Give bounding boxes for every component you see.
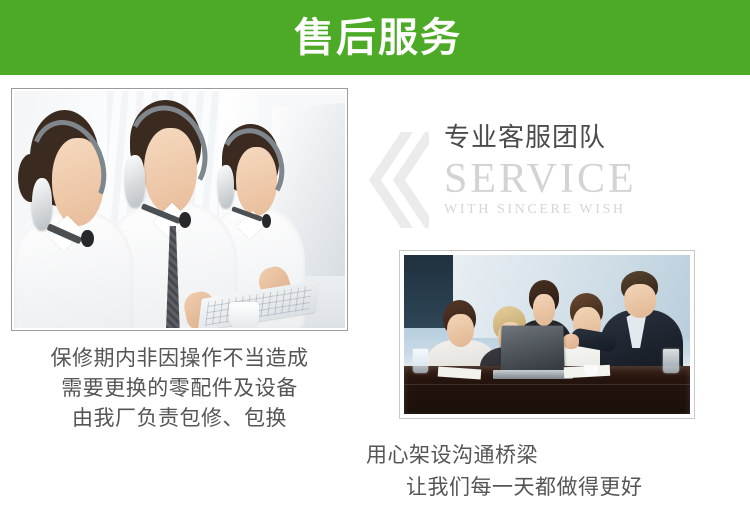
service-heading-en: SERVICE [444, 157, 744, 201]
laptop-icon [501, 326, 565, 373]
agent-figure-left [21, 110, 134, 328]
headset-mic-icon [179, 212, 191, 228]
call-center-illustration [14, 91, 345, 328]
business-meeting-illustration [404, 255, 690, 414]
headset-mic-icon [81, 230, 93, 247]
laptop-base [493, 370, 573, 380]
water-glass-icon [663, 349, 679, 373]
page-header-banner: 售后服务 [0, 0, 750, 75]
communication-caption-line-2: 让我们每一天都做得更好 [366, 472, 750, 504]
photo-inner-left [14, 91, 345, 328]
service-subheading-en: WITH SINCERE WISH [444, 202, 744, 218]
warranty-caption-line-3: 由我厂负责包修、包换 [11, 404, 348, 434]
business-meeting-photo [399, 250, 695, 419]
photo-inner-right [404, 255, 690, 414]
headset-earcup-icon [32, 178, 52, 230]
warranty-caption-line-1: 保修期内非因操作不当造成 [11, 344, 348, 374]
page-title: 售后服务 [294, 18, 462, 58]
service-heading-block: 专业客服团队 SERVICE WITH SINCERE WISH [444, 122, 744, 218]
coffee-cup-icon [229, 302, 259, 328]
double-chevron-left-icon [367, 130, 429, 230]
call-center-team-photo [11, 88, 348, 331]
service-heading-cn: 专业客服团队 [444, 122, 744, 153]
person-hand [563, 334, 579, 350]
warranty-caption: 保修期内非因操作不当造成 需要更换的零配件及设备 由我厂负责包修、包换 [11, 344, 348, 433]
warranty-caption-line-2: 需要更换的零配件及设备 [11, 374, 348, 404]
person-face [533, 294, 556, 326]
coffee-cup-icon [584, 365, 598, 376]
person-face [624, 284, 657, 318]
communication-caption-line-1: 用心架设沟通桥梁 [366, 440, 750, 472]
water-glass-icon [413, 349, 429, 373]
communication-caption: 用心架设沟通桥梁 让我们每一天都做得更好 [366, 440, 750, 503]
